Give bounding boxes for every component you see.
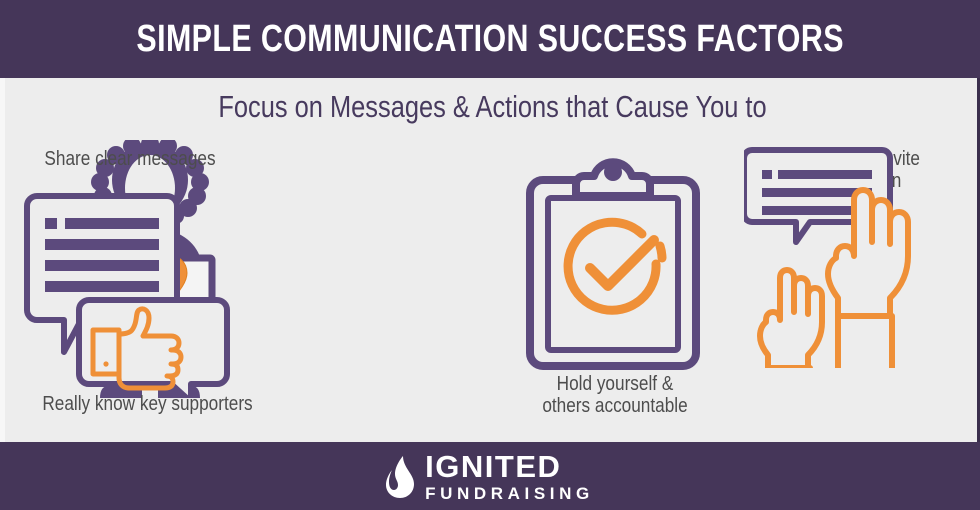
header-bar: SIMPLE COMMUNICATION SUCCESS FACTORS — [0, 0, 980, 78]
column-hold-yourself-accountable: Hold yourself & others accountable — [500, 78, 730, 442]
caption-share-clear-messages: Share clear messages — [23, 148, 238, 170]
brand-logo: IGNITED FUNDRAISING — [386, 451, 594, 502]
column-share-clear-messages: Share clear messages — [5, 78, 255, 442]
column-continually-invite-participation: Continually invite participation — [730, 78, 980, 442]
caption-line-2: others accountable — [542, 395, 687, 417]
caption-line-1: Hold yourself & — [557, 373, 674, 395]
infographic-root: SIMPLE COMMUNICATION SUCCESS FACTORS Foc… — [0, 0, 980, 510]
logo-wordmark: IGNITED FUNDRAISING — [425, 451, 594, 502]
raised-hands-speech-bubble-icon — [744, 138, 964, 368]
page-title: SIMPLE COMMUNICATION SUCCESS FACTORS — [136, 20, 843, 58]
content-panel: Focus on Messages & Actions that Cause Y… — [0, 78, 980, 442]
flame-icon — [386, 454, 416, 498]
logo-primary-text: IGNITED — [425, 451, 594, 482]
caption-hold-yourself-accountable: Hold yourself & others accountable — [516, 373, 714, 418]
clipboard-check-icon — [518, 158, 708, 373]
logo-secondary-text: FUNDRAISING — [425, 485, 594, 502]
speech-bubbles-thumbs-up-icon — [19, 188, 239, 398]
footer-bar: IGNITED FUNDRAISING — [0, 442, 980, 510]
